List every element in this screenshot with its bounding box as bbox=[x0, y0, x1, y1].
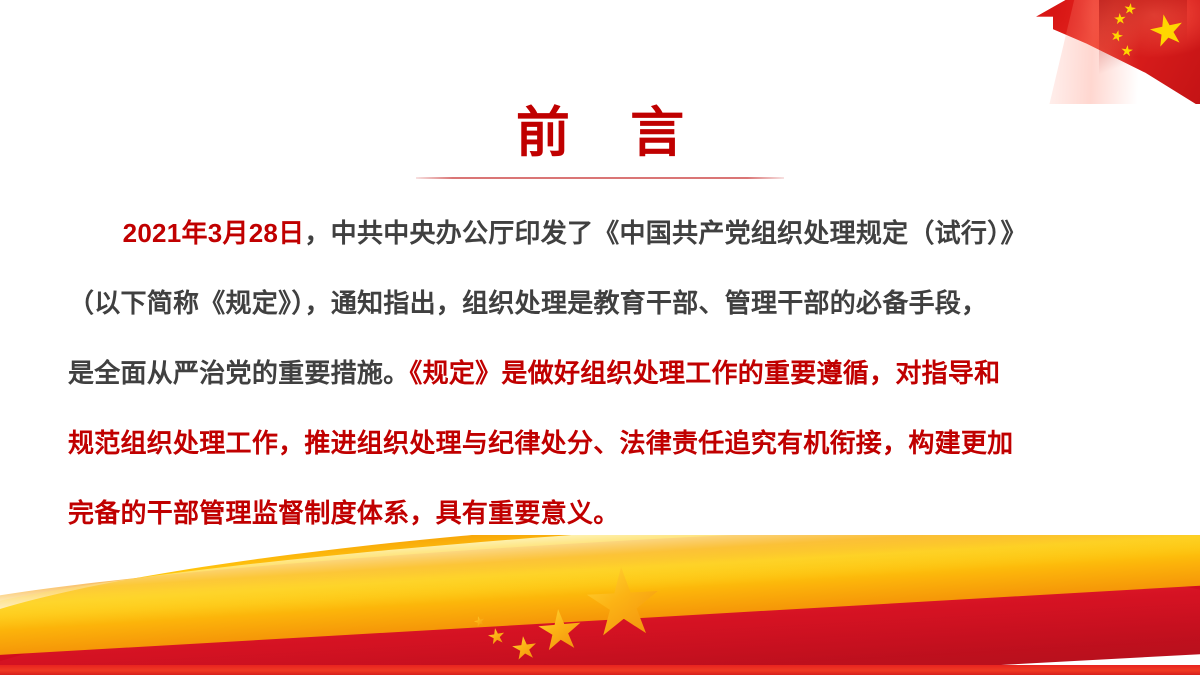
body-text-run: ，中共中央办公厅印发了《中国共产党组织处理规定（试行）》 bbox=[304, 218, 1026, 248]
ribbon-star-4-icon bbox=[536, 607, 584, 655]
title-underline-rule bbox=[416, 177, 784, 179]
ribbon-red-band bbox=[0, 535, 1200, 675]
body-text-run: 完备的干部管理监督制度体系，具有重要意义。 bbox=[68, 498, 619, 528]
flag-small-star-3-icon bbox=[1110, 29, 1125, 44]
ribbon-gold-light-band bbox=[0, 535, 1200, 635]
body-text-run: 是全面从严治党的重要措施。 bbox=[68, 358, 409, 388]
body-text-run: 规范组织处理工作，推进组织处理与纪律处分、法律责任追究有机衔接，构建更加 bbox=[68, 428, 1013, 458]
ribbon-star-3-icon bbox=[511, 635, 539, 663]
flag-sheen-highlight bbox=[1023, 0, 1187, 104]
slide-canvas: 前 言 2021年3月28日，中共中央办公厅印发了《中国共产党组织处理规定（试行… bbox=[0, 0, 1200, 675]
china-flag-decoration bbox=[990, 0, 1200, 104]
ribbon-star-2-icon bbox=[487, 627, 507, 647]
body-line: （以下简称《规定》），通知指出，组织处理是教育干部、管理干部的必备手段， bbox=[68, 268, 1148, 338]
flag-small-star-4-icon bbox=[1120, 44, 1133, 57]
body-line: 规范组织处理工作，推进组织处理与纪律处分、法律责任追究有机衔接，构建更加 bbox=[68, 408, 1148, 478]
bottom-ribbon-decoration bbox=[0, 535, 1200, 675]
flag-sheen-shadow bbox=[1099, 0, 1187, 104]
body-text-run: （以下简称《规定》），通知指出，组织处理是教育干部、管理干部的必备手段， bbox=[68, 288, 987, 318]
ribbon-star-1-icon bbox=[473, 615, 487, 629]
flag-small-star-2-icon bbox=[1114, 13, 1127, 26]
body-line: 2021年3月28日，中共中央办公厅印发了《中国共产党组织处理规定（试行）》 bbox=[68, 198, 1148, 268]
title-block: 前 言 bbox=[0, 104, 1200, 179]
china-flag-image bbox=[990, 0, 1200, 104]
body-line: 完备的干部管理监督制度体系，具有重要意义。 bbox=[68, 478, 1148, 548]
page-title: 前 言 bbox=[493, 104, 707, 163]
body-paragraph: 2021年3月28日，中共中央办公厅印发了《中国共产党组织处理规定（试行）》（以… bbox=[68, 198, 1148, 548]
body-text-run: 《规定》是做好组织处理工作的重要遵循，对指导和 bbox=[409, 358, 1000, 388]
body-text-run: 2021年3月28日 bbox=[123, 218, 305, 248]
ribbon-gold-band bbox=[0, 535, 1200, 659]
ribbon-base-strip bbox=[0, 665, 1200, 675]
ribbon-star-5-icon bbox=[584, 565, 662, 643]
flag-large-star-icon bbox=[1147, 11, 1187, 51]
flag-small-star-1-icon bbox=[1123, 2, 1137, 16]
body-line: 是全面从严治党的重要措施。《规定》是做好组织处理工作的重要遵循，对指导和 bbox=[68, 338, 1148, 408]
ribbon-red-highlight bbox=[0, 540, 1200, 675]
